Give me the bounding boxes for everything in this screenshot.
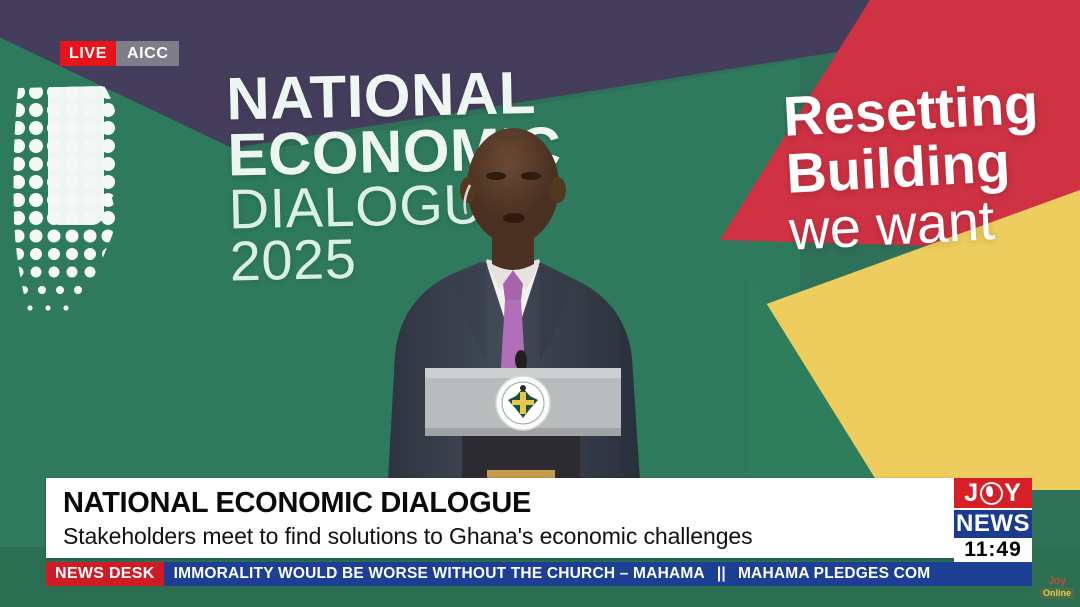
live-badge: LIVE xyxy=(60,41,116,66)
on-screen-clock: 11:49 xyxy=(954,537,1032,562)
joy-letter-y: Y xyxy=(1004,479,1022,508)
globe-africa-icon xyxy=(980,482,1003,505)
news-ticker: NEWS DESK IMMORALITY WOULD BE WORSE WITH… xyxy=(46,562,1032,586)
ticker-separator: || xyxy=(705,565,738,583)
ticker-label: NEWS DESK xyxy=(46,562,164,586)
watermark-suffix: Online xyxy=(1040,588,1074,599)
watermark-brand: Joy xyxy=(1040,576,1074,587)
lower-third-headline: NATIONAL ECONOMIC DIALOGUE xyxy=(46,488,954,518)
live-location-label: AICC xyxy=(116,41,180,66)
broadcast-screenshot: NATIONAL ECONOMIC DIALOGUE 2025 Resettin… xyxy=(0,0,1080,607)
news-wordmark: NEWS xyxy=(954,508,1032,537)
channel-logo-block: J Y NEWS 11:49 xyxy=(954,478,1032,562)
live-status-bar: LIVE AICC xyxy=(60,41,179,66)
lower-third-subtitle: Stakeholders meet to find solutions to G… xyxy=(46,524,954,549)
joy-wordmark: J Y xyxy=(954,478,1032,508)
ticker-item-1: IMMORALITY WOULD BE WORSE WITHOUT THE CH… xyxy=(174,565,705,583)
joy-online-watermark: Joy Online xyxy=(1040,576,1074,599)
lower-third-banner: NATIONAL ECONOMIC DIALOGUE Stakeholders … xyxy=(46,478,954,558)
joy-letter-j: J xyxy=(964,479,979,508)
ticker-content: IMMORALITY WOULD BE WORSE WITHOUT THE CH… xyxy=(164,562,1032,586)
ticker-item-2: MAHAMA PLEDGES COM xyxy=(738,565,930,583)
